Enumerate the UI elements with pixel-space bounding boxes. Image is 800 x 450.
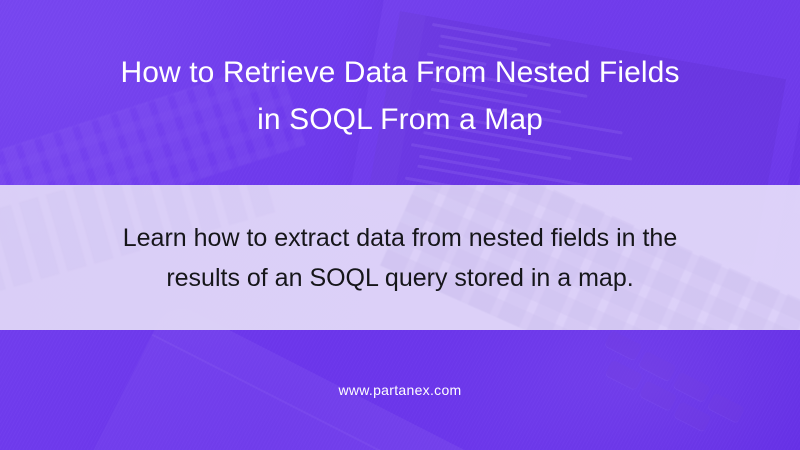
page-title-line-1: How to Retrieve Data From Nested Fields [120, 49, 679, 96]
blog-banner: How to Retrieve Data From Nested Fields … [0, 0, 800, 450]
banner-content: How to Retrieve Data From Nested Fields … [0, 0, 800, 450]
page-title-line-2: in SOQL From a Map [257, 96, 543, 143]
footer-block: www.partanex.com [0, 330, 800, 450]
subtitle-band: Learn how to extract data from nested fi… [0, 185, 800, 330]
website-url: www.partanex.com [338, 382, 461, 398]
subtitle-line-1: Learn how to extract data from nested fi… [123, 218, 677, 258]
title-block: How to Retrieve Data From Nested Fields … [0, 0, 800, 185]
subtitle-line-2: results of an SOQL query stored in a map… [166, 258, 633, 298]
